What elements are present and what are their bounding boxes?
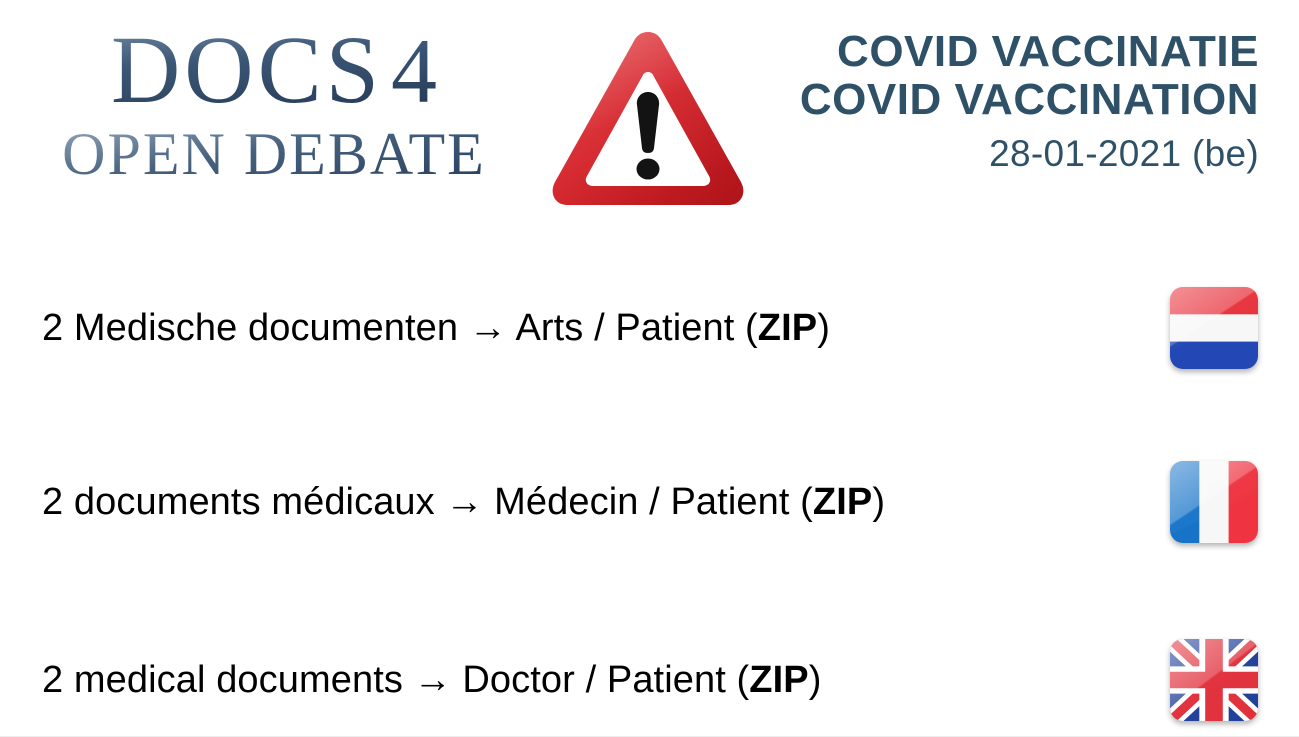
row-nl-text: 2 Medische documenten → Arts / Patient (… [42, 307, 830, 350]
row-en-text-after: ) [809, 659, 822, 701]
warning-triangle-icon [548, 24, 748, 214]
row-en-text-before: 2 medical documents → Doctor / Patient ( [42, 659, 749, 701]
title-nl: COVID VACCINATIE [800, 28, 1259, 76]
logo-number-4: 4 [391, 20, 437, 122]
row-en-zip: ZIP [749, 659, 808, 701]
row-nl-text-after: ) [817, 307, 830, 349]
row-fr-text-before: 2 documents médicaux → Médecin / Patient… [42, 481, 813, 523]
flag-france-icon [1170, 461, 1258, 543]
row-en-text: 2 medical documents → Doctor / Patient (… [42, 659, 821, 702]
logo-word-docs: DOCS [111, 16, 383, 123]
header-date: 28-01-2021 (be) [800, 133, 1259, 175]
row-en: 2 medical documents → Doctor / Patient (… [0, 630, 1299, 730]
slide-canvas: DOCS4 OPEN DEBATE [0, 0, 1299, 737]
content-rows: 2 Medische documenten → Arts / Patient (… [0, 240, 1299, 737]
brand-logo: DOCS4 OPEN DEBATE [34, 22, 514, 184]
row-nl: 2 Medische documenten → Arts / Patient (… [0, 278, 1299, 378]
row-fr: 2 documents médicaux → Médecin / Patient… [0, 452, 1299, 552]
row-nl-text-before: 2 Medische documenten → Arts / Patient ( [42, 307, 758, 349]
row-fr-zip: ZIP [813, 481, 872, 523]
row-nl-zip: ZIP [758, 307, 817, 349]
row-fr-text: 2 documents médicaux → Médecin / Patient… [42, 481, 885, 524]
logo-line-open-debate: OPEN DEBATE [34, 124, 514, 184]
header-title-block: COVID VACCINATIE COVID VACCINATION 28-01… [800, 28, 1259, 175]
row-fr-text-after: ) [872, 481, 885, 523]
flag-united-kingdom-icon [1170, 639, 1258, 721]
title-en: COVID VACCINATION [800, 76, 1259, 124]
flag-netherlands-icon [1170, 287, 1258, 369]
logo-line-docs4: DOCS4 [34, 22, 514, 118]
header: DOCS4 OPEN DEBATE [0, 0, 1299, 240]
